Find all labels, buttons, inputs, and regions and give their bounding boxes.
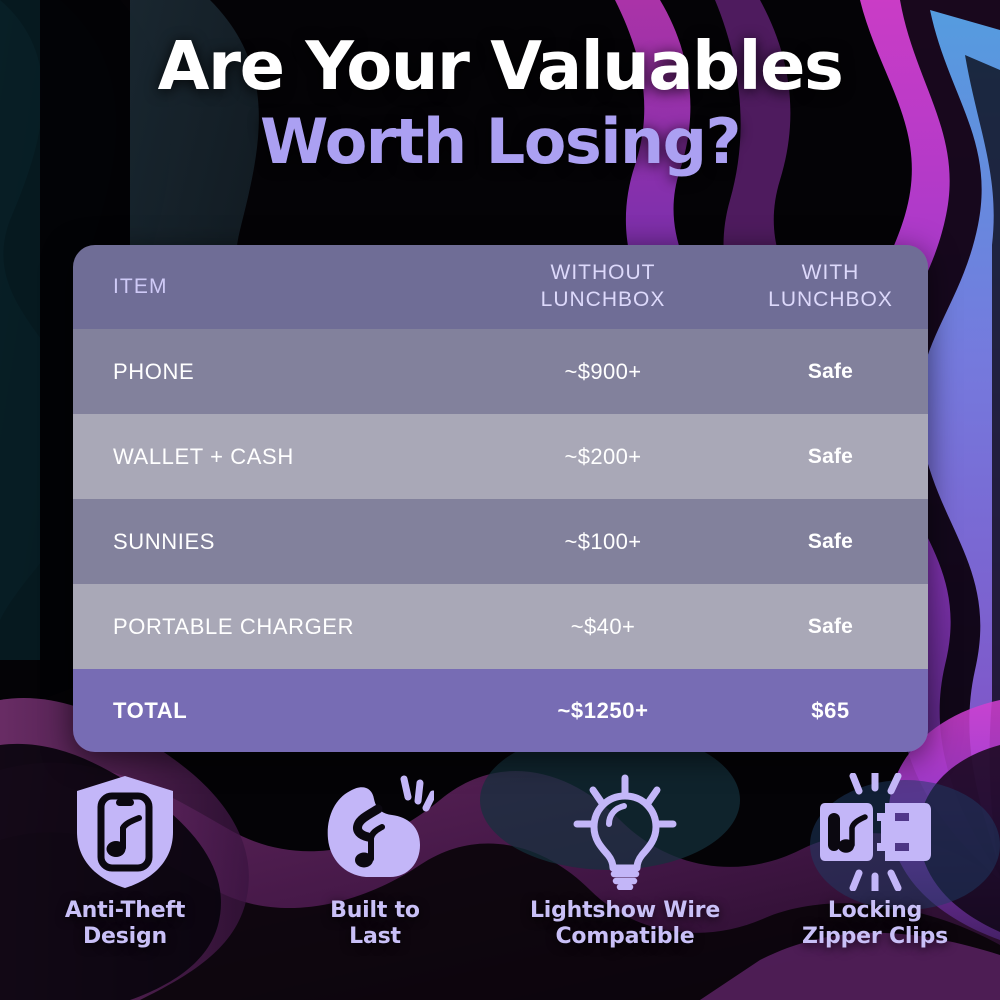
row-with-status: Safe <box>733 445 928 469</box>
feature-strip: Anti-Theft Design <box>0 772 1000 997</box>
total-without-cost: ~$1250+ <box>473 698 733 724</box>
feature-label: Lightshow Wire Compatible <box>530 898 720 950</box>
table-row: PORTABLE CHARGER ~$40+ Safe <box>73 584 928 669</box>
table-row: PHONE ~$900+ Safe <box>73 329 928 414</box>
table-header-row: ITEM WITHOUT LUNCHBOX WITH LUNCHBOX <box>73 245 928 329</box>
row-without-cost: ~$40+ <box>473 614 733 640</box>
row-item-name: PORTABLE CHARGER <box>73 614 473 640</box>
column-header-item: ITEM <box>73 275 473 299</box>
feature-label-line1: Anti-Theft <box>65 898 185 924</box>
flexed-bicep-music-icon <box>316 772 434 892</box>
feature-label-line1: Lightshow Wire <box>530 898 720 924</box>
headline-line-2: Worth Losing? <box>0 112 1000 173</box>
shield-phone-music-icon <box>69 772 181 892</box>
row-with-status: Safe <box>733 615 928 639</box>
table-row: SUNNIES ~$100+ Safe <box>73 499 928 584</box>
feature-built-to-last: Built to Last <box>250 772 500 950</box>
feature-label: Locking Zipper Clips <box>802 898 948 950</box>
feature-label-line1: Locking <box>802 898 948 924</box>
row-without-cost: ~$900+ <box>473 359 733 385</box>
row-without-cost: ~$200+ <box>473 444 733 470</box>
row-with-status: Safe <box>733 530 928 554</box>
feature-label: Built to Last <box>330 898 420 950</box>
column-header-with-line2: LUNCHBOX <box>733 287 928 314</box>
table-row: WALLET + CASH ~$200+ Safe <box>73 414 928 499</box>
feature-label-line1: Built to <box>330 898 420 924</box>
column-header-without-line1: WITHOUT <box>473 260 733 287</box>
feature-label-line2: Compatible <box>530 924 720 950</box>
feature-locking-zipper-clips: Locking Zipper Clips <box>750 772 1000 950</box>
feature-label-line2: Last <box>330 924 420 950</box>
row-with-status: Safe <box>733 360 928 384</box>
feature-lightshow-wire-compatible: Lightshow Wire Compatible <box>500 772 750 950</box>
poster-canvas: Are Your Valuables Worth Losing? ITEM WI… <box>0 0 1000 1000</box>
zipper-clip-music-icon <box>809 772 941 892</box>
column-header-with-line1: WITH <box>733 260 928 287</box>
column-header-without-lunchbox: WITHOUT LUNCHBOX <box>473 260 733 314</box>
page-title: Are Your Valuables Worth Losing? <box>0 34 1000 172</box>
row-item-name: SUNNIES <box>73 529 473 555</box>
feature-label: Anti-Theft Design <box>65 898 185 950</box>
row-item-name: WALLET + CASH <box>73 444 473 470</box>
row-item-name: PHONE <box>73 359 473 385</box>
total-with-cost: $65 <box>733 698 928 724</box>
table-total-row: TOTAL ~$1250+ $65 <box>73 669 928 752</box>
total-label: TOTAL <box>73 698 473 724</box>
feature-label-line2: Design <box>65 924 185 950</box>
comparison-table: ITEM WITHOUT LUNCHBOX WITH LUNCHBOX PHON… <box>73 245 928 752</box>
headline-line-1: Are Your Valuables <box>0 34 1000 100</box>
column-header-with-lunchbox: WITH LUNCHBOX <box>733 260 928 314</box>
feature-label-line2: Zipper Clips <box>802 924 948 950</box>
feature-anti-theft-design: Anti-Theft Design <box>0 772 250 950</box>
row-without-cost: ~$100+ <box>473 529 733 555</box>
column-header-without-line2: LUNCHBOX <box>473 287 733 314</box>
lightbulb-icon <box>569 772 681 892</box>
